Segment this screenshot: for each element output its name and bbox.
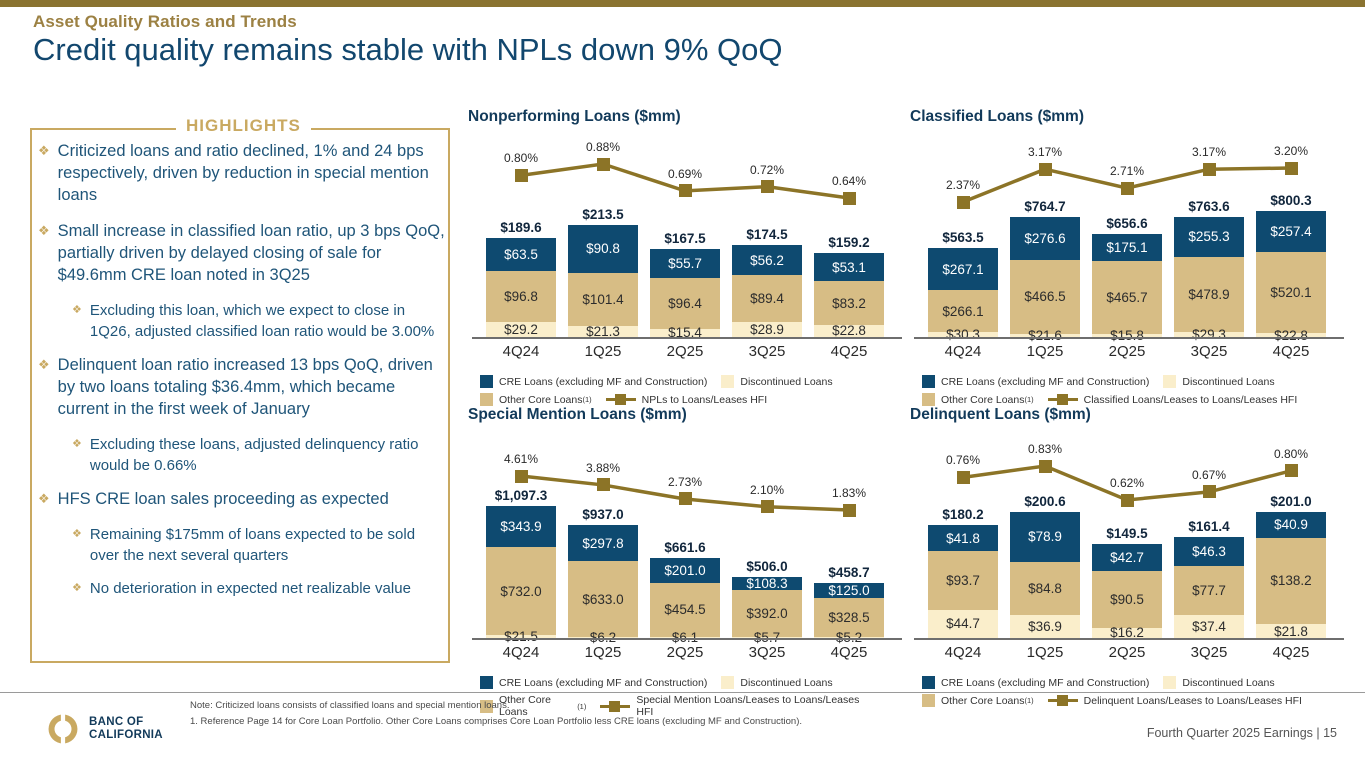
diamond-bullet-icon: ❖ [72, 300, 82, 342]
highlight-text: Small increase in classified loan ratio,… [58, 220, 446, 286]
chart-title: Classified Loans ($mm) [910, 108, 1310, 126]
x-axis-label: 2Q25 [1087, 644, 1167, 661]
page-number: Fourth Quarter 2025 Earnings | 15 [1147, 726, 1337, 740]
x-axis-label: 1Q25 [1005, 343, 1085, 360]
highlights-list: ❖Criticized loans and ratio declined, 1%… [38, 140, 446, 611]
ratio-value-label: 0.88% [568, 140, 638, 154]
line-marker [1285, 464, 1298, 477]
x-axis-label: 2Q25 [645, 644, 725, 661]
legend-item-discontinued[interactable]: Discontinued Loans [721, 676, 832, 689]
legend-swatch-cre [480, 676, 493, 689]
ratio-value-label: 2.71% [1092, 164, 1162, 178]
legend-label: Discontinued Loans [740, 677, 832, 689]
diamond-bullet-icon: ❖ [72, 434, 82, 476]
ratio-value-label: 3.17% [1174, 145, 1244, 159]
legend-line-marker-icon [600, 700, 630, 713]
chart-legend: CRE Loans (excluding MF and Construction… [922, 375, 1322, 406]
chart-panel-delinquent-loans: Delinquent Loans ($mm)$41.8$93.7$44.7$18… [910, 406, 1310, 712]
ratio-value-label: 0.80% [1256, 447, 1326, 461]
legend-item-cre[interactable]: CRE Loans (excluding MF and Construction… [480, 676, 707, 689]
diamond-bullet-icon: ❖ [38, 488, 50, 510]
line-marker [1285, 162, 1298, 175]
chart-legend: CRE Loans (excluding MF and Construction… [480, 375, 880, 406]
legend-swatch-disc [1163, 375, 1176, 388]
legend-swatch-cre [922, 375, 935, 388]
x-axis-label: 1Q25 [563, 343, 643, 360]
ratio-value-label: 3.17% [1010, 145, 1080, 159]
legend-label: NPLs to Loans/Leases HFI [642, 394, 767, 406]
legend-item-cre[interactable]: CRE Loans (excluding MF and Construction… [922, 375, 1149, 388]
footnote-note: Note: Criticized loans consists of class… [190, 700, 509, 711]
logo-line-2: CALIFORNIA [89, 729, 163, 742]
logo-line-1: BANC OF [89, 716, 163, 729]
highlight-sub-bullet: ❖Excluding this loan, which we expect to… [72, 300, 446, 342]
diamond-bullet-icon: ❖ [72, 524, 82, 566]
ratio-value-label: 2.73% [650, 475, 720, 489]
legend-item-ratio-line[interactable]: Special Mention Loans/Leases to Loans/Le… [600, 694, 866, 718]
legend-footnote-marker: (1) [577, 702, 586, 711]
ratio-value-label: 2.37% [928, 178, 998, 192]
legend-row: Other Core Loans(1)Classified Loans/Leas… [922, 393, 1322, 406]
line-marker [597, 478, 610, 491]
legend-row: Other Core Loans(1)Special Mention Loans… [480, 694, 880, 718]
line-marker [761, 180, 774, 193]
legend-item-other-core[interactable]: Other Core Loans(1) [480, 393, 592, 406]
legend-row: CRE Loans (excluding MF and Construction… [922, 676, 1322, 689]
ratio-value-label: 0.67% [1174, 468, 1244, 482]
x-axis-label: 4Q25 [809, 644, 889, 661]
legend-label: Other Core Loans [499, 694, 577, 718]
line-marker [843, 192, 856, 205]
legend-item-discontinued[interactable]: Discontinued Loans [1163, 375, 1274, 388]
legend-item-discontinued[interactable]: Discontinued Loans [721, 375, 832, 388]
x-axis-label: 2Q25 [645, 343, 725, 360]
ratio-value-label: 3.20% [1256, 144, 1326, 158]
x-axis-label: 4Q25 [809, 343, 889, 360]
ratio-value-label: 0.64% [814, 174, 884, 188]
legend-label: CRE Loans (excluding MF and Construction… [941, 677, 1149, 689]
ratio-value-label: 0.80% [486, 151, 556, 165]
legend-label: CRE Loans (excluding MF and Construction… [941, 376, 1149, 388]
ratio-value-label: 4.61% [486, 452, 556, 466]
slide-eyebrow: Asset Quality Ratios and Trends [33, 12, 297, 32]
legend-label: CRE Loans (excluding MF and Construction… [499, 677, 707, 689]
ratio-value-label: 0.62% [1092, 476, 1162, 490]
legend-item-ratio-line[interactable]: NPLs to Loans/Leases HFI [606, 393, 767, 406]
legend-item-other-core[interactable]: Other Core Loans(1) [922, 694, 1034, 707]
legend-swatch-cre [480, 375, 493, 388]
legend-label: Classified Loans/Leases to Loans/Leases … [1084, 394, 1298, 406]
line-marker [1039, 460, 1052, 473]
chart-panel-classified-loans: Classified Loans ($mm)$267.1$266.1$30.3$… [910, 108, 1310, 411]
x-axis-label: 4Q25 [1251, 343, 1331, 360]
line-marker [1203, 485, 1216, 498]
highlight-bullet: ❖Delinquent loan ratio increased 13 bps … [38, 354, 446, 420]
line-marker [1121, 494, 1134, 507]
legend-footnote-marker: (1) [582, 395, 591, 404]
x-axis-line [472, 337, 902, 339]
chart-plot-area: $267.1$266.1$30.3$563.54Q24$276.6$466.5$… [910, 130, 1310, 367]
x-axis-label: 3Q25 [1169, 644, 1249, 661]
legend-row: CRE Loans (excluding MF and Construction… [480, 676, 880, 689]
legend-label: Special Mention Loans/Leases to Loans/Le… [636, 694, 866, 718]
highlight-sub-bullet: ❖Excluding these loans, adjusted delinqu… [72, 434, 446, 476]
line-marker [515, 169, 528, 182]
ratio-value-label: 0.83% [1010, 442, 1080, 456]
highlight-text: Delinquent loan ratio increased 13 bps Q… [58, 354, 446, 420]
chart-plot-area: $41.8$93.7$44.7$180.24Q24$78.9$84.8$36.9… [910, 428, 1310, 668]
highlight-text: Excluding these loans, adjusted delinque… [90, 434, 446, 476]
x-axis-label: 3Q25 [727, 644, 807, 661]
ratio-line-series [910, 130, 1310, 337]
x-axis-label: 4Q25 [1251, 644, 1331, 661]
legend-label: Other Core Loans [499, 394, 582, 406]
chart-title: Delinquent Loans ($mm) [910, 406, 1310, 424]
legend-item-other-core[interactable]: Other Core Loans(1) [922, 393, 1034, 406]
legend-label: Discontinued Loans [1182, 677, 1274, 689]
highlight-text: Excluding this loan, which we expect to … [90, 300, 446, 342]
legend-row: Other Core Loans(1)NPLs to Loans/Leases … [480, 393, 880, 406]
x-axis-label: 4Q24 [481, 343, 561, 360]
logo-ring-icon [46, 712, 80, 746]
legend-label: Other Core Loans [941, 394, 1024, 406]
chart-plot-area: $343.9$732.0$21.5$1,097.34Q24$297.8$633.… [468, 428, 868, 668]
legend-label: CRE Loans (excluding MF and Construction… [499, 376, 707, 388]
ratio-value-label: 0.69% [650, 167, 720, 181]
highlight-bullet: ❖HFS CRE loan sales proceeding as expect… [38, 488, 446, 510]
line-marker [761, 500, 774, 513]
chart-title: Nonperforming Loans ($mm) [468, 108, 868, 126]
logo-text: BANC OF CALIFORNIA [89, 716, 163, 742]
top-accent-bar [0, 0, 1365, 7]
legend-line-marker-icon [1048, 393, 1078, 406]
legend-swatch-other [922, 393, 935, 406]
diamond-bullet-icon: ❖ [38, 354, 50, 420]
x-axis-label: 2Q25 [1087, 343, 1167, 360]
highlight-bullet: ❖Small increase in classified loan ratio… [38, 220, 446, 286]
highlights-heading: HIGHLIGHTS [176, 116, 311, 136]
legend-swatch-other [922, 694, 935, 707]
legend-label: Discontinued Loans [1182, 376, 1274, 388]
legend-swatch-disc [1163, 676, 1176, 689]
banc-of-california-logo: BANC OF CALIFORNIA [46, 712, 163, 746]
x-axis-label: 1Q25 [563, 644, 643, 661]
ratio-value-label: 2.10% [732, 483, 802, 497]
line-marker [1121, 182, 1134, 195]
legend-item-cre[interactable]: CRE Loans (excluding MF and Construction… [480, 375, 707, 388]
legend-label: Discontinued Loans [740, 376, 832, 388]
highlight-bullet: ❖Criticized loans and ratio declined, 1%… [38, 140, 446, 206]
footnote-reference: 1. Reference Page 14 for Core Loan Portf… [190, 716, 802, 727]
ratio-value-label: 3.88% [568, 461, 638, 475]
chart-title: Special Mention Loans ($mm) [468, 406, 868, 424]
line-marker [957, 471, 970, 484]
chart-panel-special-mention-loans: Special Mention Loans ($mm)$343.9$732.0$… [468, 406, 868, 723]
line-marker [679, 492, 692, 505]
chart-legend: CRE Loans (excluding MF and Construction… [480, 676, 880, 718]
x-axis-label: 4Q24 [923, 644, 1003, 661]
footer-divider [0, 692, 1365, 693]
legend-item-discontinued[interactable]: Discontinued Loans [1163, 676, 1274, 689]
x-axis-line [914, 337, 1344, 339]
slide: Asset Quality Ratios and Trends Credit q… [0, 0, 1365, 768]
legend-row: Other Core Loans(1)Delinquent Loans/Leas… [922, 694, 1322, 707]
ratio-value-label: 1.83% [814, 486, 884, 500]
legend-footnote-marker: (1) [1024, 395, 1033, 404]
x-axis-line [472, 638, 902, 640]
x-axis-label: 4Q24 [481, 644, 561, 661]
legend-item-cre[interactable]: CRE Loans (excluding MF and Construction… [922, 676, 1149, 689]
legend-footnote-marker: (1) [1024, 696, 1033, 705]
x-axis-label: 1Q25 [1005, 644, 1085, 661]
chart-plot-area: $63.5$96.8$29.2$189.64Q24$90.8$101.4$21.… [468, 130, 868, 367]
x-axis-label: 3Q25 [1169, 343, 1249, 360]
legend-item-ratio-line[interactable]: Classified Loans/Leases to Loans/Leases … [1048, 393, 1298, 406]
highlight-sub-bullet: ❖No deterioration in expected net realiz… [72, 578, 446, 599]
x-axis-label: 4Q24 [923, 343, 1003, 360]
ratio-value-label: 0.72% [732, 163, 802, 177]
diamond-bullet-icon: ❖ [72, 578, 82, 599]
legend-swatch-cre [922, 676, 935, 689]
line-marker [597, 158, 610, 171]
ratio-value-label: 0.76% [928, 453, 998, 467]
legend-swatch-other [480, 393, 493, 406]
legend-row: CRE Loans (excluding MF and Construction… [922, 375, 1322, 388]
highlight-text: No deterioration in expected net realiza… [90, 578, 411, 599]
page-title: Credit quality remains stable with NPLs … [33, 32, 783, 68]
x-axis-line [914, 638, 1344, 640]
legend-item-ratio-line[interactable]: Delinquent Loans/Leases to Loans/Leases … [1048, 694, 1302, 707]
legend-swatch-disc [721, 375, 734, 388]
legend-row: CRE Loans (excluding MF and Construction… [480, 375, 880, 388]
legend-label: Delinquent Loans/Leases to Loans/Leases … [1084, 695, 1302, 707]
legend-line-marker-icon [606, 393, 636, 406]
line-marker [1203, 163, 1216, 176]
diamond-bullet-icon: ❖ [38, 140, 50, 206]
chart-panel-nonperforming-loans: Nonperforming Loans ($mm)$63.5$96.8$29.2… [468, 108, 868, 411]
line-marker [679, 184, 692, 197]
legend-swatch-disc [721, 676, 734, 689]
x-axis-label: 3Q25 [727, 343, 807, 360]
legend-label: Other Core Loans [941, 695, 1024, 707]
highlight-sub-bullet: ❖Remaining $175mm of loans expected to b… [72, 524, 446, 566]
line-marker [1039, 163, 1052, 176]
highlight-text: Criticized loans and ratio declined, 1% … [58, 140, 446, 206]
line-marker [515, 470, 528, 483]
legend-line-marker-icon [1048, 694, 1078, 707]
line-marker [957, 196, 970, 209]
highlight-text: Remaining $175mm of loans expected to be… [90, 524, 446, 566]
diamond-bullet-icon: ❖ [38, 220, 50, 286]
line-marker [843, 504, 856, 517]
highlight-text: HFS CRE loan sales proceeding as expecte… [58, 488, 389, 510]
